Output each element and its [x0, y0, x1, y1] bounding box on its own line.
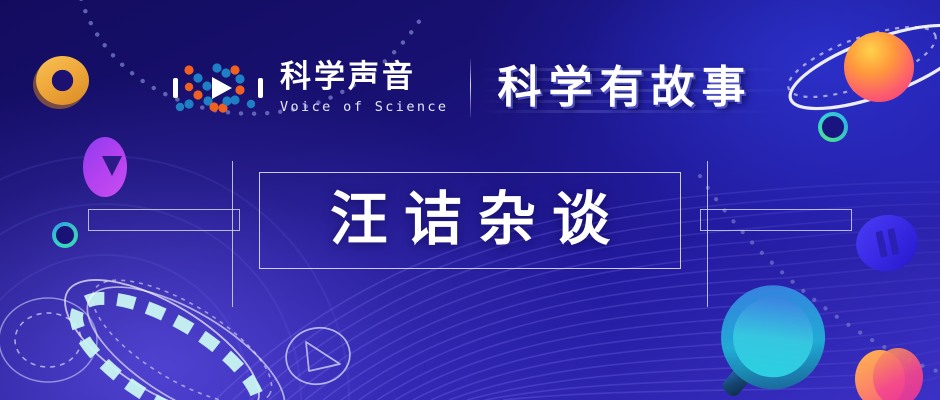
play-button-dots-logo — [170, 57, 266, 119]
right-accent-bar — [700, 209, 852, 231]
logo-bar-right — [258, 78, 263, 98]
orange-pink-planet — [844, 32, 914, 102]
pink-orange-circles — [855, 348, 925, 400]
orange-donut — [36, 56, 89, 105]
left-accent-bar — [88, 209, 240, 231]
vertical-divider — [470, 59, 471, 117]
logo-bar-left — [173, 78, 178, 98]
main-title-group: 汪诘杂谈 — [0, 160, 940, 280]
tagline-wrap: 科学有故事 — [497, 66, 752, 110]
page-title: 汪诘杂谈 — [314, 190, 626, 248]
brand-name-en: Voice of Science — [280, 99, 448, 115]
tagline-text: 科学有故事 — [497, 66, 752, 110]
title-vrule-left — [232, 161, 233, 307]
teal-ring-right — [818, 112, 848, 142]
header-row: 科学声音 Voice of Science 科学有故事 — [170, 57, 752, 119]
logo-play-triangle — [212, 77, 232, 99]
brand-text: 科学声音 Voice of Science — [280, 61, 448, 115]
pink-circle-front — [873, 348, 923, 400]
brand-block: 科学声音 Voice of Science — [170, 57, 448, 119]
title-frame: 汪诘杂谈 — [259, 172, 681, 269]
brand-name-cn: 科学声音 — [280, 61, 448, 94]
title-vrule-right — [707, 161, 708, 307]
banner-root: 科学声音 Voice of Science 科学有故事 汪诘杂谈 — [0, 0, 940, 400]
